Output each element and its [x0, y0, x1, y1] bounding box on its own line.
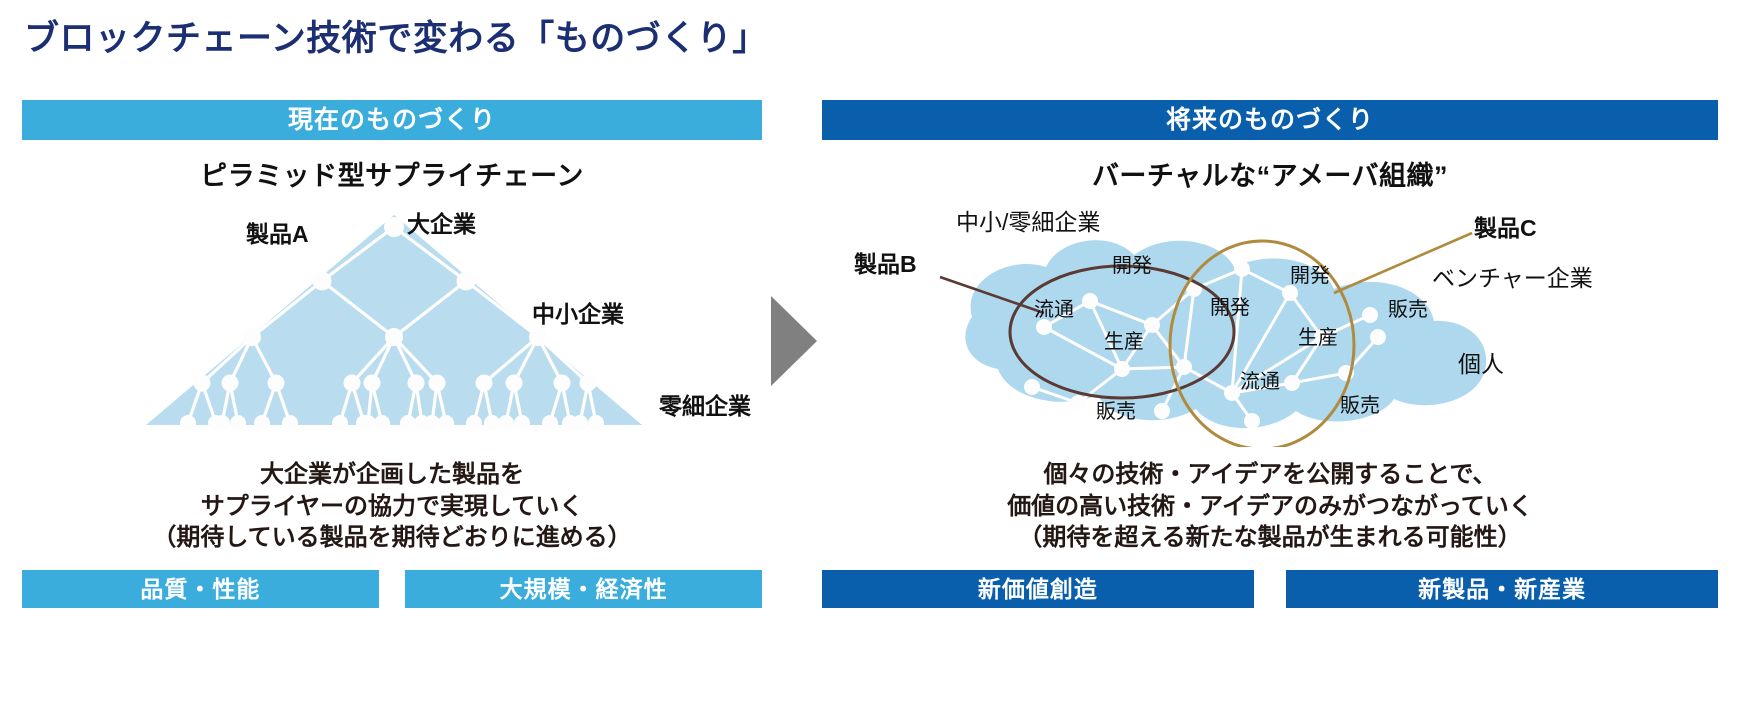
pill-new-value-creation[interactable]: 新価値創造 — [822, 570, 1254, 608]
product-a-label: 製品A — [246, 215, 309, 249]
node-sales-right: 販売 — [1388, 293, 1428, 322]
transition-arrow — [771, 296, 819, 391]
tier-label-sme: 中小企業 — [532, 295, 624, 329]
pyramid-diagram: 製品A 大企業 中小企業 零細企業 — [22, 197, 762, 447]
venture-label: ベンチャー企業 — [1432, 259, 1593, 293]
left-caption-line-2: サプライヤーの協力で実現していく — [22, 491, 762, 523]
node-b-production: 生産 — [1104, 325, 1144, 354]
left-panel: 現在のものづくり ピラミッド型サプライチェーン — [22, 100, 762, 608]
sme-micro-label: 中小/零細企業 — [956, 203, 1100, 237]
pill-quality-performance[interactable]: 品質・性能 — [22, 570, 379, 608]
right-panel-subtitle: バーチャルな“アメーバ組織” — [822, 154, 1718, 193]
product-c-label: 製品C — [1474, 209, 1537, 243]
right-caption-line-3: （期待を超える新たな製品が生まれる可能性） — [822, 522, 1718, 554]
pill-new-product-industry[interactable]: 新製品・新産業 — [1286, 570, 1718, 608]
slide-canvas: ブロックチェーン技術で変わる「ものづくり」 現在のものづくり ピラミッド型サプラ… — [0, 0, 1740, 702]
right-caption-line-1: 個々の技術・アイデアを公開することで、 — [822, 459, 1718, 491]
product-b-label: 製品B — [854, 245, 917, 279]
tier-label-micro: 零細企業 — [659, 387, 751, 421]
right-panel-header: 将来のものづくり — [822, 100, 1718, 140]
node-c-production: 生産 — [1298, 321, 1338, 350]
right-caption-line-2: 価値の高い技術・アイデアのみがつながっていく — [822, 491, 1718, 523]
right-caption: 個々の技術・アイデアを公開することで、 価値の高い技術・アイデアのみがつながって… — [822, 459, 1718, 554]
node-sales-left: 販売 — [1096, 395, 1136, 424]
node-c-development-overlap: 開発 — [1210, 291, 1250, 320]
left-panel-subtitle: ピラミッド型サプライチェーン — [22, 154, 762, 193]
left-caption-line-1: 大企業が企画した製品を — [22, 459, 762, 491]
page-title: ブロックチェーン技術で変わる「ものづくり」 — [24, 10, 768, 61]
node-b-distribution: 流通 — [1034, 293, 1074, 322]
pill-scale-economy[interactable]: 大規模・経済性 — [405, 570, 762, 608]
individual-label: 個人 — [1458, 345, 1504, 379]
node-c-development: 開発 — [1290, 259, 1330, 288]
node-sales-bottom: 販売 — [1340, 389, 1380, 418]
right-pill-group: 新価値創造 新製品・新産業 — [822, 570, 1718, 608]
left-caption: 大企業が企画した製品を サプライヤーの協力で実現していく （期待している製品を期… — [22, 459, 762, 554]
amoeba-diagram: 中小/零細企業 製品B 製品C ベンチャー企業 個人 開発 流通 生産 開発 開… — [822, 197, 1718, 447]
left-pill-group: 品質・性能 大規模・経済性 — [22, 570, 762, 608]
left-panel-header: 現在のものづくり — [22, 100, 762, 140]
node-b-development: 開発 — [1112, 249, 1152, 278]
pyramid-svg — [22, 197, 762, 447]
node-c-distribution: 流通 — [1240, 365, 1280, 394]
right-panel: 将来のものづくり バーチャルな“アメーバ組織” — [822, 100, 1718, 608]
left-caption-line-3: （期待している製品を期待どおりに進める） — [22, 522, 762, 554]
tier-label-large: 大企業 — [407, 205, 476, 239]
